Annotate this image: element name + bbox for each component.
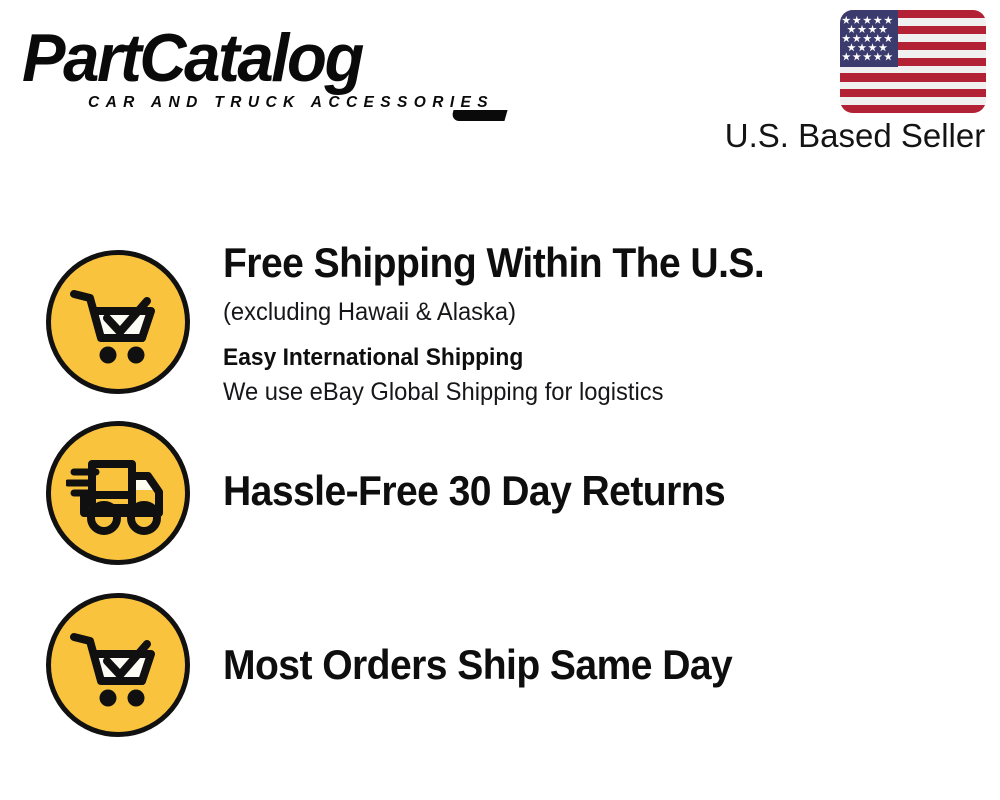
feature-text-free-shipping: Free Shipping Within The U.S. (excluding…	[223, 238, 980, 409]
brand-tagline: CAR AND TRUCK ACCESSORIES	[88, 94, 494, 112]
us-flag-icon	[840, 10, 986, 113]
feature-subnote: We use eBay Global Shipping for logistic…	[223, 375, 942, 409]
logo-swoosh-decoration	[450, 110, 507, 121]
feature-subheading: Easy International Shipping	[223, 341, 942, 375]
feature-heading: Free Shipping Within The U.S.	[223, 238, 927, 288]
promo-banner: PartCatalog CAR AND TRUCK ACCESSORIES	[0, 0, 1000, 800]
feature-text-returns: Hassle-Free 30 Day Returns	[223, 466, 980, 516]
shopping-cart-check-icon	[46, 250, 190, 394]
flag-canton	[840, 10, 898, 67]
us-based-seller-badge	[840, 10, 986, 113]
us-based-seller-label: U.S. Based Seller	[724, 116, 986, 156]
delivery-truck-icon	[46, 421, 190, 565]
feature-text-same-day-ship: Most Orders Ship Same Day	[223, 640, 980, 690]
feature-heading: Most Orders Ship Same Day	[223, 640, 927, 690]
feature-note: (excluding Hawaii & Alaska)	[223, 295, 942, 329]
feature-heading: Hassle-Free 30 Day Returns	[223, 466, 927, 516]
shopping-cart-check-icon	[46, 593, 190, 737]
brand-wordmark: PartCatalog	[22, 24, 483, 92]
brand-logo[interactable]: PartCatalog CAR AND TRUCK ACCESSORIES	[22, 24, 502, 119]
